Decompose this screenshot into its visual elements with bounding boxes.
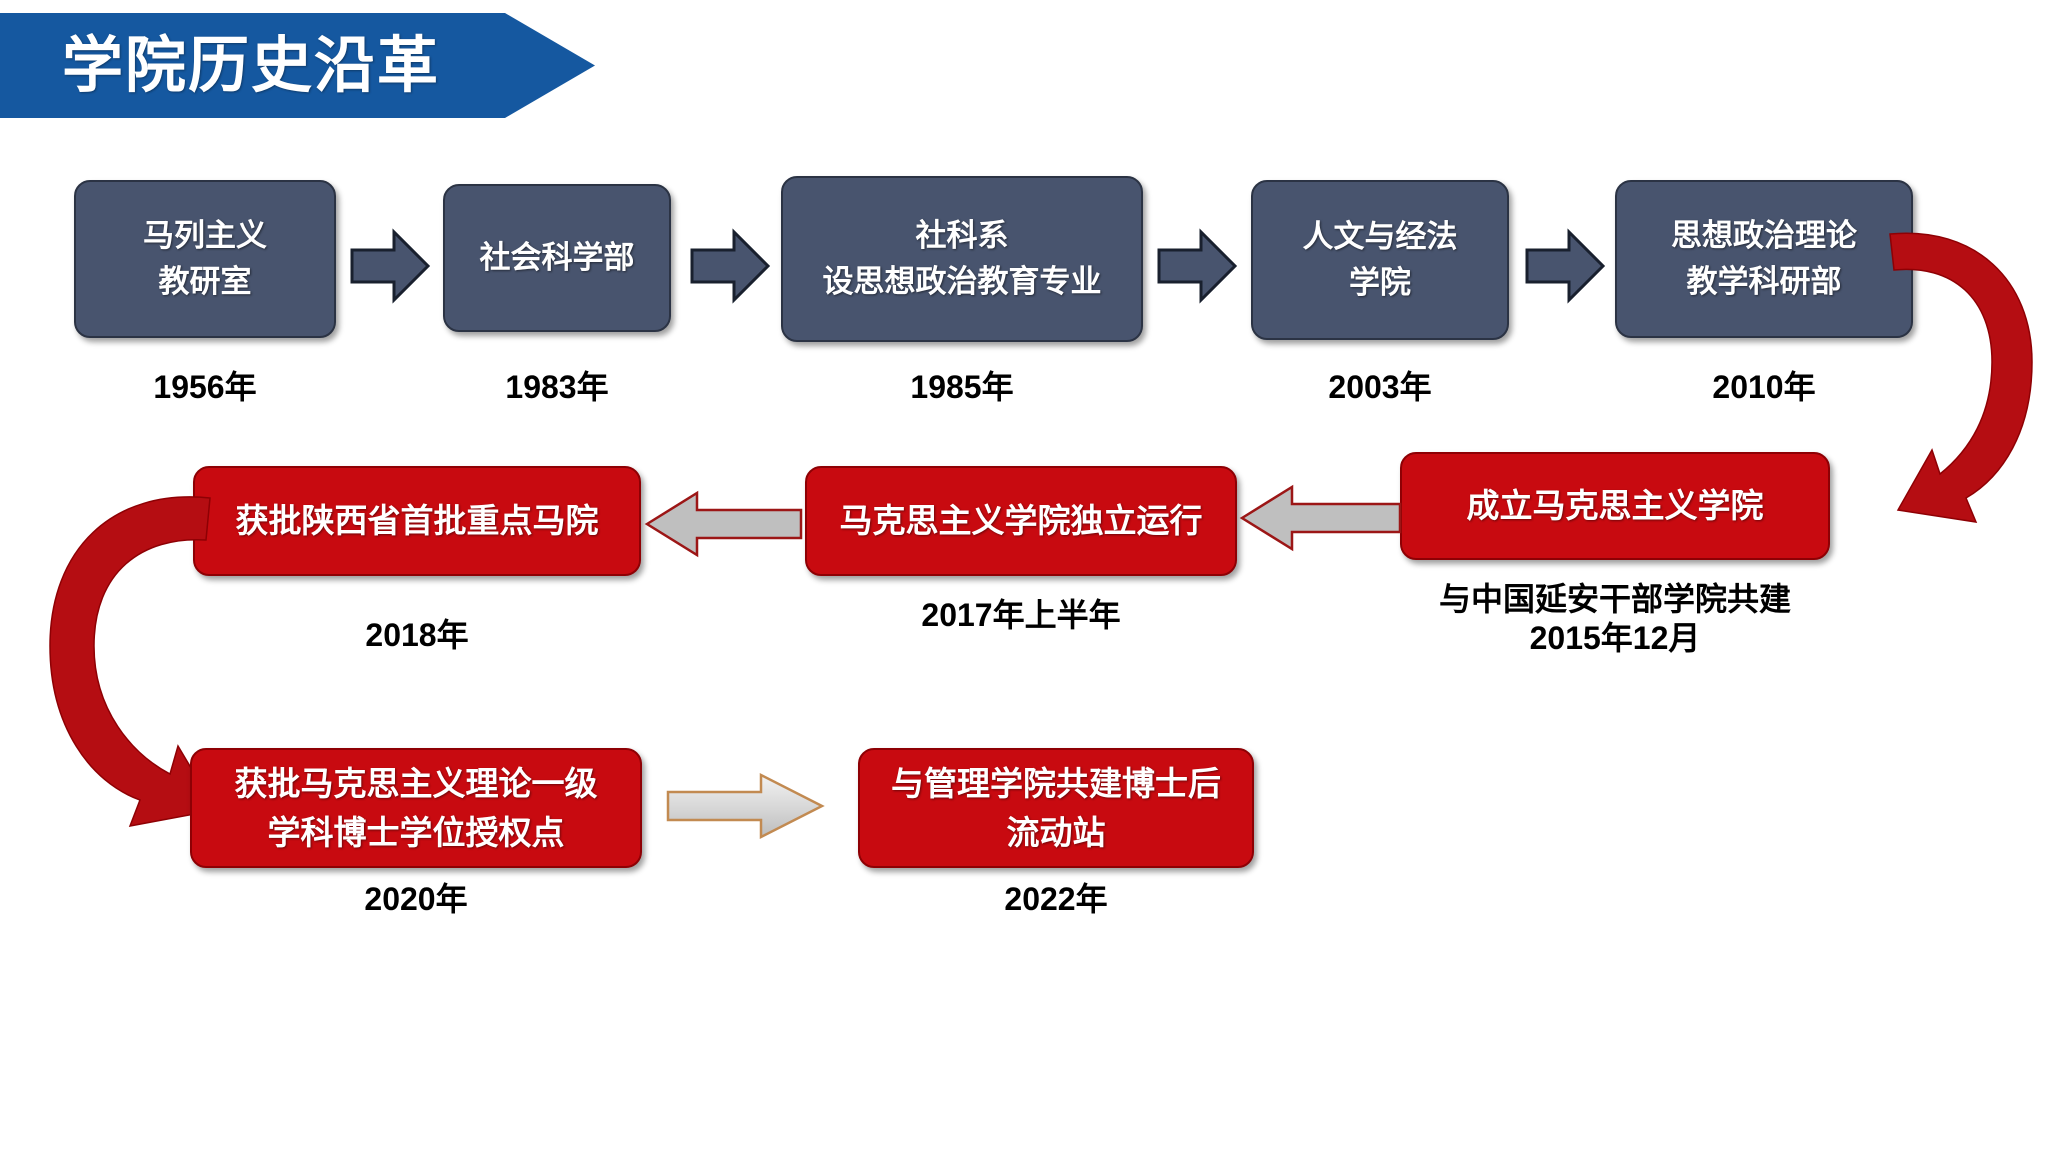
right-arrow-icon [352, 232, 428, 300]
caption-2003: 2003年 [1251, 368, 1509, 407]
timeline-node-2022[interactable]: 与管理学院共建博士后 流动站 [858, 748, 1254, 868]
node-line-1: 获批马克思主义理论一级 [235, 759, 598, 809]
node-line-2: 流动站 [1007, 808, 1106, 858]
caption-1956: 1956年 [74, 368, 336, 407]
node-line-1: 马列主义 [143, 213, 267, 260]
slide-canvas: 学院历史沿革 马列主义 教研室 1956年 社会科学部 1983年 社科系 设思… [0, 0, 2048, 1152]
row1-arrow-1 [352, 230, 428, 302]
node-line-1: 成立马克思主义学院 [1467, 481, 1764, 531]
timeline-node-2017[interactable]: 马克思主义学院独立运行 [805, 466, 1237, 576]
row2-arrow-2 [1240, 484, 1402, 552]
left-arrow-icon [1242, 487, 1400, 549]
timeline-node-2003[interactable]: 人文与经法 学院 [1251, 180, 1509, 340]
left-arrow-icon [647, 493, 801, 555]
caption-2018: 2018年 [193, 616, 641, 655]
node-line-1: 获批陕西省首批重点马院 [236, 496, 599, 546]
caption-2015: 与中国延安干部学院共建 2015年12月 [1400, 580, 1830, 658]
timeline-node-2010[interactable]: 思想政治理论 教学科研部 [1615, 180, 1913, 338]
node-line-1: 社会科学部 [480, 235, 635, 282]
row3-arrow-1 [665, 770, 825, 842]
row1-arrow-4 [1527, 230, 1603, 302]
caption-1983: 1983年 [443, 368, 671, 407]
node-line-2: 教研室 [159, 259, 252, 306]
caption-2020: 2020年 [190, 880, 642, 919]
curved-arrow-down-left-icon [1890, 233, 2032, 522]
node-line-1: 与管理学院共建博士后 [891, 759, 1221, 809]
node-line-2: 教学科研部 [1687, 259, 1842, 306]
right-arrow-icon [1159, 232, 1235, 300]
caption-2010: 2010年 [1615, 368, 1913, 407]
curved-connector-right [1880, 222, 2048, 532]
right-arrow-icon [1527, 232, 1603, 300]
row2-arrow-1 [645, 490, 803, 558]
node-line-1: 社科系 [916, 213, 1009, 260]
title-banner: 学院历史沿革 [0, 13, 595, 118]
node-line-1: 人文与经法 [1303, 214, 1458, 261]
node-line-2: 学科博士学位授权点 [268, 808, 565, 858]
node-line-1: 马克思主义学院独立运行 [840, 496, 1203, 546]
caption-1985: 1985年 [781, 368, 1143, 407]
timeline-node-2018[interactable]: 获批陕西省首批重点马院 [193, 466, 641, 576]
timeline-node-2015[interactable]: 成立马克思主义学院 [1400, 452, 1830, 560]
node-line-2: 学院 [1349, 260, 1411, 307]
timeline-node-1983[interactable]: 社会科学部 [443, 184, 671, 332]
right-arrow-icon [668, 775, 822, 837]
node-line-2: 设思想政治教育专业 [823, 259, 1102, 306]
row1-arrow-3 [1159, 230, 1235, 302]
caption-2022: 2022年 [858, 880, 1254, 919]
timeline-node-2020[interactable]: 获批马克思主义理论一级 学科博士学位授权点 [190, 748, 642, 868]
row1-arrow-2 [692, 230, 768, 302]
page-title: 学院历史沿革 [62, 35, 440, 96]
caption-2017: 2017年上半年 [805, 596, 1237, 635]
timeline-node-1956[interactable]: 马列主义 教研室 [74, 180, 336, 338]
timeline-node-1985[interactable]: 社科系 设思想政治教育专业 [781, 176, 1143, 342]
right-arrow-icon [692, 232, 768, 300]
node-line-1: 思想政治理论 [1671, 213, 1857, 260]
